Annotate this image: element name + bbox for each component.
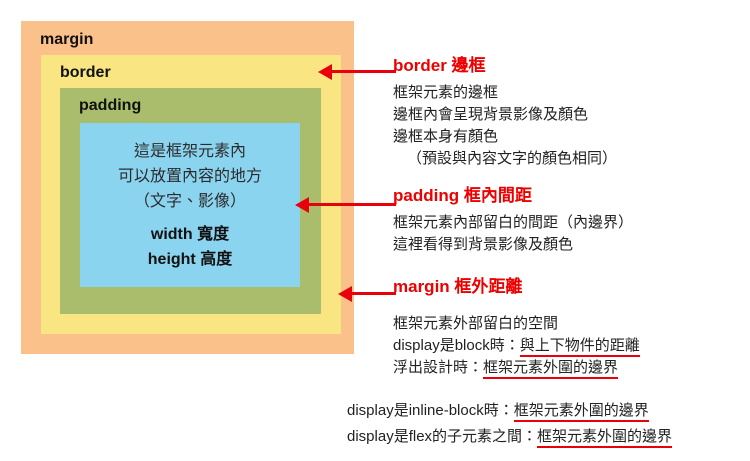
padding-annotation: padding 框內間距 框架元素內部留白的間距（內邊界） 這裡看得到背景影像及…: [393, 185, 633, 256]
padding-layer-label: padding: [79, 98, 141, 114]
padding-annotation-line-1: 框架元素內部留白的間距（內邊界）: [393, 212, 633, 234]
margin-arrow-icon: [338, 285, 396, 303]
content-layer: 這是框架元素內 可以放置內容的地方 （文字、影像） width 寬度 heigh…: [80, 123, 300, 287]
footer-line-1: display是inline-block時：框架元素外圍的邊界: [347, 398, 672, 424]
arrow-shaft: [350, 292, 396, 295]
footer-line-2: display是flex的子元素之間：框架元素外圍的邊界: [347, 424, 672, 450]
margin-annotation-line-2: display是block時：與上下物件的距離: [393, 335, 640, 357]
padding-layer: padding 這是框架元素內 可以放置內容的地方 （文字、影像） width …: [60, 88, 321, 314]
footer-line-1-emphasis: 框架元素外圍的邊界: [514, 402, 649, 422]
border-annotation-line-1: 框架元素的邊框: [393, 82, 617, 104]
margin-annotation-line-3-prefix: 浮出設計時：: [393, 359, 483, 376]
footer-line-2-emphasis: 框架元素外圍的邊界: [537, 428, 672, 448]
border-arrow-icon: [318, 63, 396, 81]
margin-annotation-line-1: 框架元素外部留白的空間: [393, 313, 640, 335]
margin-annotation-line-3: 浮出設計時：框架元素外圍的邊界: [393, 357, 640, 379]
margin-layer-label: margin: [40, 32, 93, 48]
border-annotation: border 邊框 框架元素的邊框 邊框內會呈現背景影像及顏色 邊框本身有顏色 …: [393, 55, 617, 170]
border-annotation-line-2: 邊框內會呈現背景影像及顏色: [393, 104, 617, 126]
padding-annotation-body: 框架元素內部留白的間距（內邊界） 這裡看得到背景影像及顏色: [393, 212, 633, 256]
margin-annotation-body: 框架元素外部留白的空間 display是block時：與上下物件的距離 浮出設計…: [393, 313, 640, 379]
margin-annotation-line-2-prefix: display是block時：: [393, 337, 520, 354]
margin-annotation-line-3-emphasis: 框架元素外圍的邊界: [483, 359, 618, 379]
padding-annotation-line-2: 這裡看得到背景影像及顏色: [393, 234, 633, 256]
padding-annotation-heading: padding 框內間距: [393, 185, 633, 206]
border-layer-label: border: [60, 65, 111, 81]
footer-notes: display是inline-block時：框架元素外圍的邊界 display是…: [347, 398, 672, 450]
border-annotation-body: 框架元素的邊框 邊框內會呈現背景影像及顏色 邊框本身有顏色 （預設與內容文字的顏…: [393, 82, 617, 170]
content-text-line-3: （文字、影像）: [134, 189, 246, 214]
arrow-shaft: [307, 203, 396, 206]
margin-annotation: margin 框外距離 框架元素外部留白的空間 display是block時：與…: [393, 276, 640, 379]
margin-annotation-line-2-emphasis: 與上下物件的距離: [520, 337, 640, 357]
content-text-line-2: 可以放置內容的地方: [118, 164, 262, 189]
border-annotation-heading: border 邊框: [393, 55, 617, 76]
content-width-label: width 寬度: [151, 222, 229, 247]
border-annotation-line-3: 邊框本身有顏色: [393, 126, 617, 148]
padding-arrow-icon: [295, 196, 396, 214]
content-height-label: height 高度: [148, 247, 232, 272]
content-text-line-1: 這是框架元素內: [134, 139, 246, 164]
footer-line-1-prefix: display是inline-block時：: [347, 402, 514, 419]
footer-line-2-prefix: display是flex的子元素之間：: [347, 428, 537, 445]
arrow-shaft: [330, 70, 396, 73]
border-layer: border padding 這是框架元素內 可以放置內容的地方 （文字、影像）…: [41, 55, 341, 334]
box-model-diagram: margin border padding 這是框架元素內 可以放置內容的地方 …: [21, 21, 354, 354]
margin-annotation-heading: margin 框外距離: [393, 276, 640, 297]
border-annotation-line-4: （預設與內容文字的顏色相同）: [393, 148, 617, 170]
